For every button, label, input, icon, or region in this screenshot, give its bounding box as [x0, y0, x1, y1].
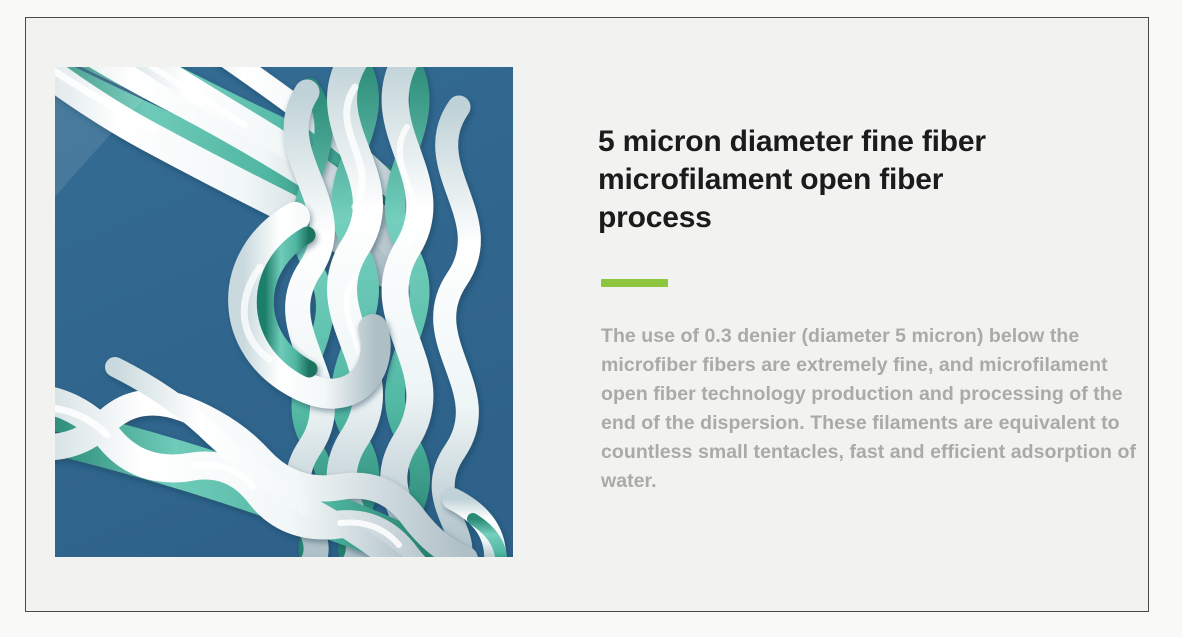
fiber-photo-panel	[55, 67, 513, 557]
page-title: 5 micron diameter fine fiber microfilame…	[598, 123, 1018, 237]
accent-divider	[601, 279, 668, 287]
text-column: 5 micron diameter fine fiber microfilame…	[598, 123, 1143, 496]
body-paragraph: The use of 0.3 denier (diameter 5 micron…	[601, 322, 1146, 496]
twisted-microfiber-illustration	[55, 67, 513, 557]
feature-card: 5 micron diameter fine fiber microfilame…	[25, 17, 1149, 612]
